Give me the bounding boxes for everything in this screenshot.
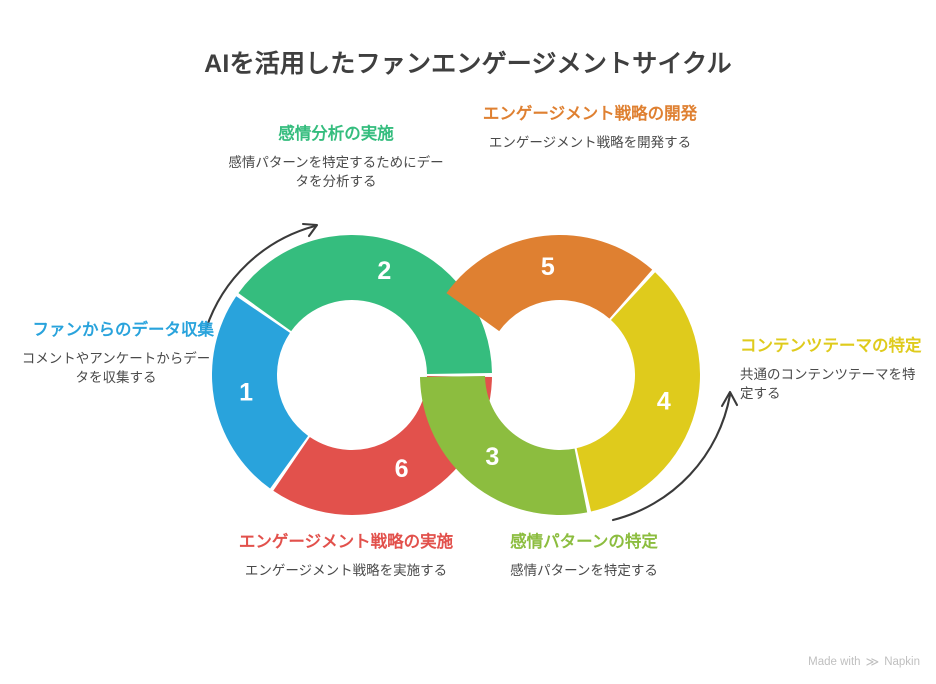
callout-step-2-title: 感情分析の実施 <box>228 124 444 146</box>
segment-3-number: 3 <box>485 443 499 471</box>
callout-step-5-description: エンゲージメント戦略を開発する <box>482 133 698 152</box>
callout-step-6-description: エンゲージメント戦略を実施する <box>238 561 454 580</box>
segment-5-number: 5 <box>541 253 555 281</box>
segment-3[interactable] <box>420 376 587 515</box>
callout-step-1-title: ファンからのデータ収集 <box>18 320 214 342</box>
watermark-brand-label: Napkin <box>884 656 920 668</box>
callout-step-3-description: 感情パターンを特定する <box>468 561 700 580</box>
left-donut: 1 2 6 <box>212 235 492 515</box>
callout-step-5-title: エンゲージメント戦略の開発 <box>482 104 698 126</box>
callout-step-3-title: 感情パターンの特定 <box>468 532 700 554</box>
napkin-watermark: Made with ≫ Napkin <box>808 655 920 668</box>
napkin-logo-icon: ≫ <box>866 655 880 668</box>
callout-step-3: 感情パターンの特定 感情パターンを特定する <box>468 532 700 580</box>
segment-6-number: 6 <box>395 455 409 483</box>
callout-step-6-title: エンゲージメント戦略の実施 <box>238 532 454 554</box>
watermark-made-with-label: Made with <box>808 656 860 668</box>
callout-step-4-description: 共通のコンテンツテーマを特定する <box>740 365 928 403</box>
segment-4-number: 4 <box>657 387 671 415</box>
diagram-canvas: AIを活用したファンエンゲージメントサイクル 1 2 6 5 4 <box>0 0 936 684</box>
callout-step-4-title: コンテンツテーマの特定 <box>740 336 928 358</box>
callout-step-2-description: 感情パターンを特定するためにデータを分析する <box>228 153 444 191</box>
callout-step-1: ファンからのデータ収集 コメントやアンケートからデータを収集する <box>18 320 214 387</box>
callout-step-5: エンゲージメント戦略の開発 エンゲージメント戦略を開発する <box>482 104 698 152</box>
segment-1-number: 1 <box>239 378 253 406</box>
right-donut: 5 4 3 <box>420 235 700 515</box>
callout-step-1-description: コメントやアンケートからデータを収集する <box>18 349 214 387</box>
segment-2-number: 2 <box>377 257 391 285</box>
callout-step-4: コンテンツテーマの特定 共通のコンテンツテーマを特定する <box>740 336 928 403</box>
callout-step-6: エンゲージメント戦略の実施 エンゲージメント戦略を実施する <box>238 532 454 580</box>
callout-step-2: 感情分析の実施 感情パターンを特定するためにデータを分析する <box>228 124 444 191</box>
